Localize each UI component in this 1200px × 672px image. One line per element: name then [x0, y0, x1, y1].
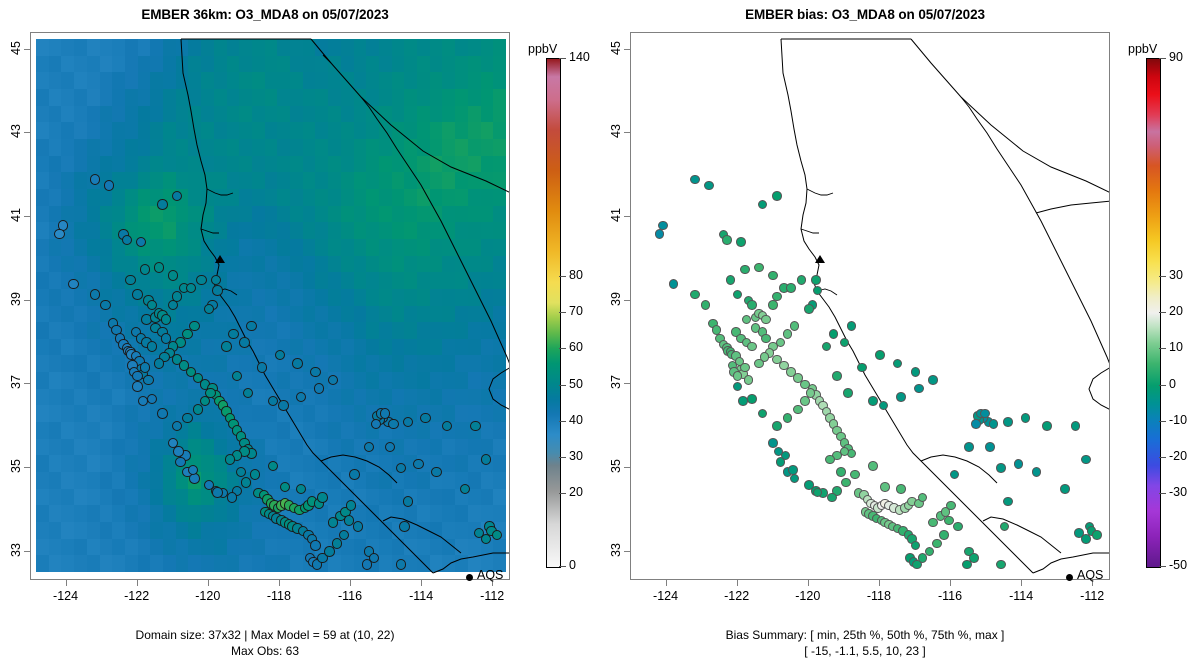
observation-point	[704, 181, 714, 191]
observation-point	[857, 363, 867, 373]
y-axis-tick-label: 33	[9, 530, 23, 570]
y-axis-tick-label: 39	[9, 279, 23, 319]
x-axis-tick	[279, 580, 280, 586]
observation-point	[317, 492, 328, 503]
colorbar-tick-label: 30	[1169, 268, 1183, 282]
observation-point	[399, 521, 410, 532]
observation-point	[1071, 421, 1081, 431]
observation-point	[953, 522, 963, 532]
observation-point	[896, 484, 906, 494]
observation-point	[850, 470, 860, 480]
observation-point	[232, 371, 243, 382]
observation-point	[875, 350, 885, 360]
y-axis-tick	[624, 467, 630, 468]
observation-point	[1081, 455, 1091, 465]
observation-point	[768, 438, 778, 448]
observation-point	[396, 559, 407, 570]
observation-point	[250, 469, 261, 480]
x-axis-tick-label: -118	[249, 589, 309, 603]
aqs-marker-icon-bias	[1066, 574, 1073, 581]
y-axis-tick	[24, 300, 30, 301]
colorbar-tick	[559, 421, 566, 422]
observation-point	[1003, 417, 1013, 427]
observation-point	[168, 270, 179, 281]
observation-point	[811, 275, 821, 285]
aqs-legend-label-bias: AQS	[1077, 568, 1103, 582]
observation-point	[747, 300, 757, 310]
y-axis-tick-label: 37	[609, 362, 623, 402]
observation-point	[847, 321, 857, 331]
observation-point	[211, 275, 222, 286]
observation-point	[733, 371, 743, 381]
observation-point	[90, 289, 101, 300]
observation-point	[413, 459, 424, 470]
aqs-marker-icon	[466, 574, 473, 581]
colorbar-tick	[559, 566, 566, 567]
bias-caption-line2: [ -15, -1.1, 5.5, 10, 23 ]	[600, 644, 1130, 659]
x-axis-tick	[66, 580, 67, 586]
observation-point	[772, 191, 782, 201]
colorbar-title-model: ppbV	[528, 42, 557, 56]
observation-point	[225, 454, 236, 465]
x-axis-tick-label: -124	[636, 589, 696, 603]
colorbar-tick-label: 10	[1169, 340, 1183, 354]
observation-point	[221, 341, 232, 352]
y-axis-tick	[624, 551, 630, 552]
observation-point	[460, 484, 471, 495]
observation-point	[825, 455, 835, 465]
y-axis-tick	[24, 383, 30, 384]
observation-point	[788, 465, 798, 475]
colorbar-tick	[1159, 58, 1166, 59]
observation-point	[420, 413, 431, 424]
x-axis-tick-label: -124	[36, 589, 96, 603]
colorbar-tick-label: -50	[1169, 558, 1187, 572]
observation-point	[243, 388, 254, 399]
observation-point	[669, 279, 679, 289]
colorbar-tick	[1159, 312, 1166, 313]
y-axis-tick	[624, 383, 630, 384]
observation-point	[733, 382, 743, 392]
observation-point	[132, 381, 143, 392]
x-axis-tick	[808, 580, 809, 586]
observation-point	[132, 371, 143, 382]
observation-point	[772, 421, 782, 431]
observation-point	[204, 304, 215, 315]
observation-point	[790, 474, 800, 484]
y-axis-tick	[624, 216, 630, 217]
colorbar-tick	[559, 276, 566, 277]
x-axis-tick-label: -112	[1062, 589, 1122, 603]
observation-point	[154, 358, 165, 369]
x-axis-tick	[137, 580, 138, 586]
observation-point	[296, 484, 307, 495]
y-axis-tick-label: 39	[609, 279, 623, 319]
observation-point	[964, 442, 974, 452]
model-plot-area	[30, 32, 510, 580]
observation-point	[236, 467, 247, 478]
observation-point	[829, 329, 839, 339]
observation-point	[747, 342, 757, 352]
y-axis-tick-label: 45	[609, 28, 623, 68]
observation-point	[310, 540, 321, 551]
observation-point	[403, 417, 414, 428]
observation-point	[655, 229, 665, 239]
observation-point	[147, 394, 158, 405]
observation-point	[332, 538, 343, 549]
colorbar-tick	[1159, 348, 1166, 349]
colorbar-tick	[1159, 457, 1166, 458]
observation-point	[944, 516, 954, 526]
colorbar-tick-label: 90	[1169, 50, 1183, 64]
observation-point	[1042, 421, 1052, 431]
observation-point	[742, 315, 752, 325]
bias-plot-area	[630, 32, 1110, 580]
x-axis-tick-label: -120	[178, 589, 238, 603]
observation-point	[786, 283, 796, 293]
observation-point	[161, 314, 172, 325]
observation-point	[932, 539, 942, 549]
observation-point	[806, 388, 816, 398]
panel-model: EMBER 36km: O3_MDA8 on 05/07/2023	[0, 0, 600, 672]
observation-point	[740, 363, 750, 373]
observation-point	[813, 286, 823, 296]
observation-point	[104, 180, 115, 191]
observation-point	[100, 300, 111, 311]
observation-point	[843, 388, 853, 398]
observation-point	[140, 264, 151, 275]
x-axis-tick-label: -118	[849, 589, 909, 603]
observation-point	[841, 478, 851, 488]
observation-point	[754, 359, 764, 369]
x-axis-tick	[879, 580, 880, 586]
observation-point	[212, 487, 223, 498]
observation-point	[175, 457, 186, 468]
observation-point	[362, 559, 373, 570]
x-axis-tick-label: -120	[778, 589, 838, 603]
page-title-bias: EMBER bias: O3_MDA8 on 05/07/2023	[600, 7, 1130, 22]
y-axis-tick	[24, 132, 30, 133]
y-axis-tick	[624, 49, 630, 50]
observation-point	[136, 237, 147, 248]
observation-point	[911, 541, 921, 551]
observation-point	[143, 375, 154, 386]
observation-point	[1081, 534, 1091, 544]
observation-point	[296, 392, 307, 403]
colorbar-tick	[559, 385, 566, 386]
y-axis-tick	[24, 216, 30, 217]
colorbar-tick	[559, 58, 566, 59]
observation-point	[726, 275, 736, 285]
observation-point	[701, 300, 711, 310]
observation-point	[310, 367, 321, 378]
colorbar-tick-label: 20	[569, 485, 583, 499]
y-axis-tick-label: 35	[609, 446, 623, 486]
observation-point	[758, 409, 768, 419]
observation-point	[928, 375, 938, 385]
observation-point	[492, 530, 503, 541]
colorbar-tick	[1159, 385, 1166, 386]
observation-point	[280, 482, 291, 493]
observation-point	[385, 442, 396, 453]
observation-point	[212, 285, 223, 296]
observation-point	[925, 547, 935, 557]
observation-point	[349, 469, 360, 480]
observation-point	[868, 396, 878, 406]
observation-point	[996, 560, 1006, 570]
observation-point	[880, 482, 890, 492]
colorbar-tick-label: 40	[569, 413, 583, 427]
observation-point	[879, 401, 889, 411]
observation-point	[740, 265, 750, 275]
observation-point	[768, 271, 778, 281]
observation-point	[193, 404, 204, 415]
x-axis-tick-label: -122	[107, 589, 167, 603]
y-axis-tick	[24, 467, 30, 468]
x-axis-tick	[1021, 580, 1022, 586]
x-axis-tick	[350, 580, 351, 586]
x-axis-tick	[208, 580, 209, 586]
x-axis-tick-label: -122	[707, 589, 767, 603]
y-axis-tick-label: 33	[609, 530, 623, 570]
observation-point	[371, 419, 382, 430]
y-axis-tick	[24, 49, 30, 50]
observation-point	[962, 560, 972, 570]
observation-point	[154, 262, 165, 273]
observation-point	[783, 329, 793, 339]
observation-point	[776, 457, 786, 467]
observation-point	[246, 321, 257, 332]
observation-point	[790, 321, 800, 331]
observation-point	[431, 467, 442, 478]
figure-canvas: EMBER 36km: O3_MDA8 on 05/07/2023	[0, 0, 1200, 672]
observation-point	[403, 496, 414, 507]
observation-point	[1003, 497, 1013, 507]
observation-point	[1092, 530, 1102, 540]
observation-point	[1032, 467, 1042, 477]
colorbar-tick-label: 80	[569, 268, 583, 282]
y-axis-tick-label: 37	[9, 362, 23, 402]
colorbar-gradient-model	[546, 58, 561, 568]
observation-point	[744, 375, 754, 385]
colorbar-gradient-bias	[1146, 58, 1161, 568]
y-axis-tick	[624, 132, 630, 133]
colorbar-tick-label: 0	[1169, 377, 1176, 391]
observation-point	[157, 408, 168, 419]
observation-point	[138, 396, 149, 407]
observation-point	[239, 337, 250, 348]
observation-point	[911, 367, 921, 377]
page-title: EMBER 36km: O3_MDA8 on 05/07/2023	[0, 7, 530, 22]
observation-point	[758, 200, 768, 210]
observation-point	[804, 480, 814, 490]
observation-point	[268, 461, 279, 472]
x-axis-tick-label: -112	[462, 589, 522, 603]
colorbar-tick-label: -20	[1169, 449, 1187, 463]
observation-point	[832, 371, 842, 381]
observation-point	[840, 338, 850, 348]
bias-caption-line1: Bias Summary: [ min, 25th %, 50th %, 75t…	[600, 628, 1130, 643]
observation-point	[1060, 484, 1070, 494]
colorbar-tick	[1159, 276, 1166, 277]
model-observation-points	[31, 33, 509, 579]
observation-point	[939, 530, 949, 540]
y-axis-tick-label: 43	[9, 111, 23, 151]
observation-point	[268, 396, 279, 407]
colorbar-tick	[559, 457, 566, 458]
observation-point	[722, 235, 732, 245]
observation-point	[690, 175, 700, 185]
observation-point	[353, 521, 364, 532]
observation-point	[797, 275, 807, 285]
observation-point	[54, 229, 65, 240]
observation-point	[950, 470, 960, 480]
observation-point	[364, 442, 375, 453]
colorbar-tick-label: 60	[569, 340, 583, 354]
observation-point	[147, 341, 158, 352]
colorbar-tick-label: 70	[569, 304, 583, 318]
observation-point	[68, 279, 79, 290]
observation-point	[822, 342, 832, 352]
observation-point	[481, 534, 492, 545]
y-axis-tick-label: 35	[9, 446, 23, 486]
observation-point	[442, 421, 453, 432]
x-axis-tick-label: -116	[320, 589, 380, 603]
aqs-legend-label: AQS	[477, 568, 503, 582]
observation-point	[481, 454, 492, 465]
observation-point	[971, 419, 981, 429]
observation-point	[946, 501, 956, 511]
observation-point	[314, 383, 325, 394]
observation-point	[132, 289, 143, 300]
observation-point	[122, 235, 133, 246]
colorbar-tick	[559, 312, 566, 313]
observation-point	[1014, 459, 1024, 469]
x-axis-tick	[950, 580, 951, 586]
observation-point	[893, 359, 903, 369]
y-axis-tick-label: 45	[9, 28, 23, 68]
colorbar-tick-label: 20	[1169, 304, 1183, 318]
observation-point	[918, 493, 928, 503]
x-axis-tick	[666, 580, 667, 586]
panel-bias: EMBER bias: O3_MDA8 on 05/07/2023	[600, 0, 1200, 672]
colorbar-tick-label: 30	[569, 449, 583, 463]
y-axis-tick-label: 41	[9, 195, 23, 235]
model-caption-line2: Max Obs: 63	[0, 644, 530, 659]
observation-point	[344, 515, 355, 526]
observation-point	[980, 409, 990, 419]
colorbar-tick	[559, 493, 566, 494]
observation-point	[328, 375, 339, 386]
observation-point	[836, 467, 846, 477]
colorbar-tick-label: -10	[1169, 413, 1187, 427]
colorbar-tick	[1159, 421, 1166, 422]
observation-point	[241, 477, 252, 488]
observation-point	[761, 315, 771, 325]
colorbar-tick-label: 50	[569, 377, 583, 391]
observation-point	[768, 300, 778, 310]
observation-point	[228, 329, 239, 340]
observation-point	[690, 290, 700, 300]
x-axis-tick	[737, 580, 738, 586]
observation-point	[292, 358, 303, 369]
observation-point	[388, 419, 399, 430]
observation-point	[914, 384, 924, 394]
observation-point	[804, 304, 814, 314]
observation-point	[747, 394, 757, 404]
observation-point	[90, 174, 101, 185]
observation-point	[1021, 413, 1031, 423]
colorbar-tick	[1159, 566, 1166, 567]
observation-point	[827, 493, 837, 503]
y-axis-tick-label: 43	[609, 111, 623, 151]
observation-point	[125, 275, 136, 286]
y-axis-tick	[24, 551, 30, 552]
model-caption-line1: Domain size: 37x32 | Max Model = 59 at (…	[0, 628, 530, 643]
observation-point	[783, 413, 793, 423]
colorbar-title-bias: ppbV	[1128, 42, 1157, 56]
observation-point	[182, 413, 193, 424]
observation-point	[346, 500, 357, 511]
observation-point	[793, 405, 803, 415]
observation-point	[275, 350, 286, 361]
observation-point	[733, 290, 743, 300]
observation-point	[339, 530, 350, 541]
observation-point	[157, 199, 168, 210]
colorbar-tick-label: -30	[1169, 485, 1187, 499]
observation-point	[172, 291, 183, 302]
observation-point	[278, 400, 289, 411]
observation-point	[996, 463, 1006, 473]
colorbar-tick	[1159, 493, 1166, 494]
colorbar-tick	[559, 348, 566, 349]
observation-point	[896, 392, 906, 402]
observation-point	[196, 275, 207, 286]
colorbar-tick-label: 140	[569, 50, 590, 64]
observation-point	[205, 388, 216, 399]
colorbar-tick-label: 0	[569, 558, 576, 572]
observation-point	[172, 421, 183, 432]
observation-point	[172, 191, 183, 202]
observation-point	[380, 408, 391, 419]
observation-point	[257, 362, 268, 373]
observation-point	[736, 237, 746, 247]
x-axis-tick-label: -116	[920, 589, 980, 603]
observation-point	[800, 396, 810, 406]
observation-point	[186, 283, 197, 294]
bias-observation-points	[631, 33, 1109, 579]
observation-point	[470, 421, 481, 432]
observation-point	[227, 492, 238, 503]
observation-point	[985, 442, 995, 452]
y-axis-tick	[624, 300, 630, 301]
x-axis-tick-label: -114	[991, 589, 1051, 603]
observation-point	[396, 463, 407, 474]
observation-point	[772, 292, 782, 302]
observation-point	[1000, 522, 1010, 532]
y-axis-tick-label: 41	[609, 195, 623, 235]
x-axis-tick	[421, 580, 422, 586]
observation-point	[868, 461, 878, 471]
x-axis-tick-label: -114	[391, 589, 451, 603]
observation-point	[754, 263, 764, 273]
observation-point	[738, 396, 748, 406]
observation-point	[989, 419, 999, 429]
